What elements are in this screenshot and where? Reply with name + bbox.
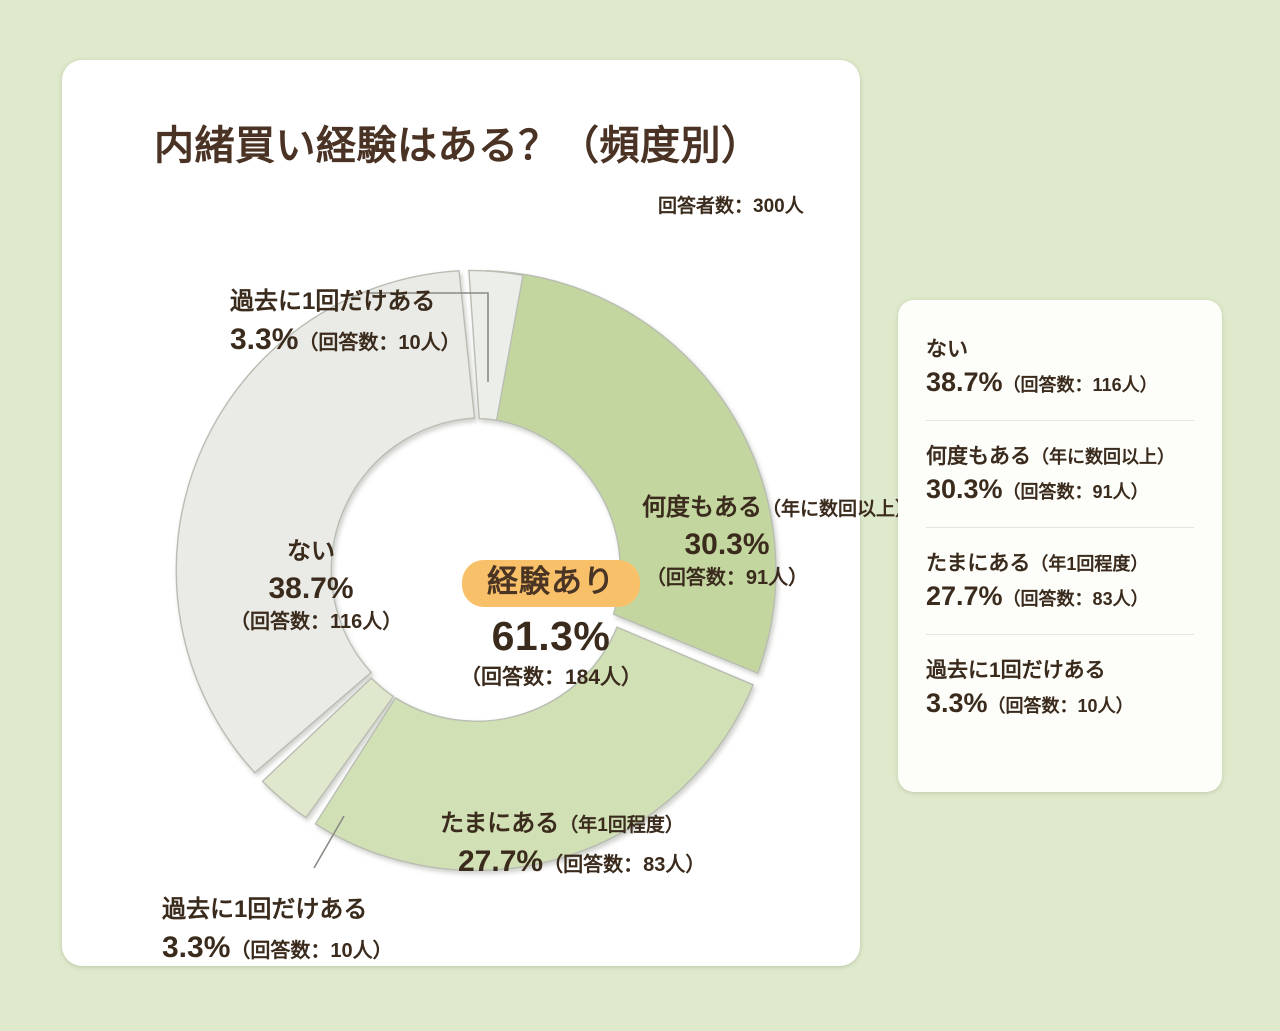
callout-sometimes: たまにある（年1回程度） 27.7%（回答数：83人） — [440, 808, 705, 881]
callout-often-count: （回答数：91人） — [646, 567, 808, 589]
legend-count-once: （回答数：10人） — [988, 696, 1134, 716]
callout-once-top: 過去に1回だけある 3.3%（回答数：10人） — [230, 286, 461, 359]
callout-often-qualifier: （年に数回以上） — [762, 499, 914, 520]
legend-value-often: 30.3% — [926, 474, 1003, 504]
segment-often[interactable] — [482, 271, 776, 673]
callout-sometimes-value: 27.7% — [458, 845, 543, 878]
legend-item-none[interactable]: ない 38.7%（回答数：116人） — [926, 336, 1194, 420]
legend-item-once[interactable]: 過去に1回だけある 3.3%（回答数：10人） — [926, 634, 1194, 741]
callout-once-bottom-label: 過去に1回だけある — [162, 896, 367, 923]
callout-none-count: （回答数：116人） — [230, 611, 402, 633]
legend-qualifier-often: （年に数回以上） — [1031, 447, 1175, 467]
legend-value-none: 38.7% — [926, 367, 1003, 397]
legend-count-often: （回答数：91人） — [1003, 482, 1149, 502]
chart-card: 内緒買い経験はある？（頻度別） 回答者数：300人 — [62, 60, 860, 966]
callout-none-label: ない — [287, 538, 335, 565]
legend-label-sometimes: たまにある — [926, 552, 1030, 575]
callout-once-bottom-count: （回答数：10人） — [230, 940, 392, 962]
callout-often-value: 30.3% — [684, 528, 769, 561]
callout-once-top-label: 過去に1回だけある — [230, 288, 435, 315]
callout-once-top-count: （回答数：10人） — [298, 332, 460, 354]
callout-once-top-value: 3.3% — [230, 323, 298, 356]
callout-sometimes-qualifier: （年1回程度） — [559, 815, 684, 836]
legend-count-none: （回答数：116人） — [1003, 375, 1158, 395]
legend-item-sometimes[interactable]: たまにある（年1回程度） 27.7%（回答数：83人） — [926, 527, 1194, 634]
callout-none-value: 38.7% — [268, 572, 353, 605]
legend-item-often[interactable]: 何度もある（年に数回以上） 30.3%（回答数：91人） — [926, 420, 1194, 527]
legend-label-once: 過去に1回だけある — [926, 659, 1106, 682]
legend-label-often: 何度もある — [926, 445, 1031, 468]
legend-qualifier-sometimes: （年1回程度） — [1030, 554, 1148, 574]
callout-none: ない 38.7% （回答数：116人） — [230, 536, 392, 635]
callout-sometimes-label: たまにある — [440, 810, 559, 837]
legend-panel: ない 38.7%（回答数：116人） 何度もある（年に数回以上） 30.3%（回… — [898, 300, 1222, 792]
legend-label-none: ない — [926, 338, 968, 361]
callout-sometimes-count: （回答数：83人） — [543, 854, 705, 876]
callout-often-label: 何度もある — [642, 494, 762, 521]
callout-once-bottom: 過去に1回だけある 3.3%（回答数：10人） — [162, 894, 393, 967]
callout-often: 何度もある（年に数回以上） 30.3% （回答数：91人） — [642, 492, 914, 591]
legend-value-once: 3.3% — [926, 688, 988, 718]
respondents-note: 回答者数：300人 — [658, 191, 804, 218]
page-title: 内緒買い経験はある？（頻度別） — [154, 113, 762, 171]
legend-count-sometimes: （回答数：83人） — [1003, 589, 1149, 609]
legend-value-sometimes: 27.7% — [926, 581, 1003, 611]
callout-once-bottom-value: 3.3% — [162, 931, 230, 964]
